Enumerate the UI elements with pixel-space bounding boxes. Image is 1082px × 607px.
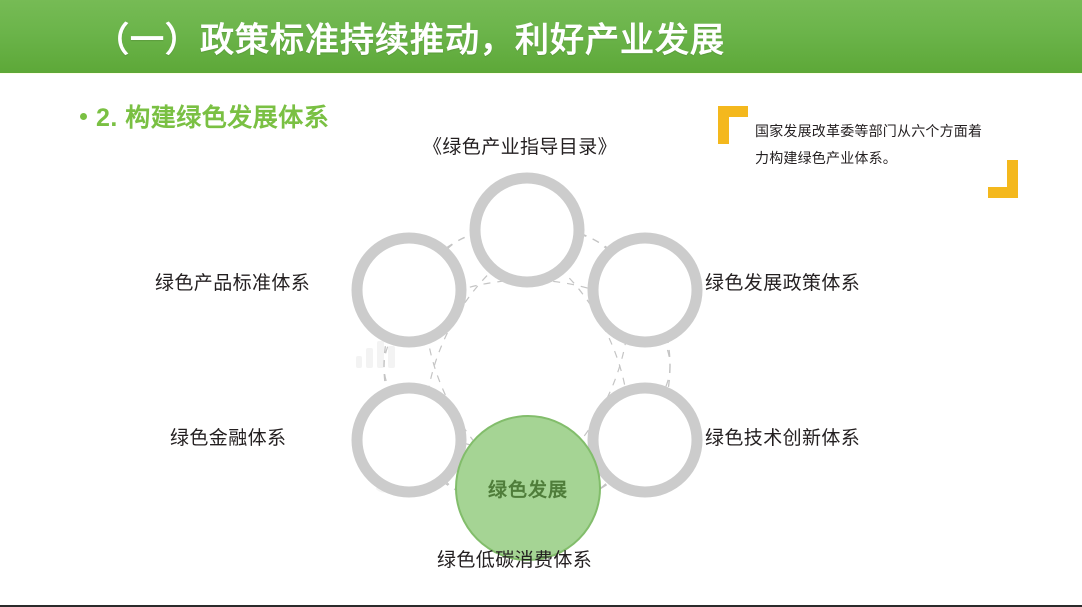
node-ring-top[interactable] [475,178,579,282]
bullet-dot-icon [80,113,87,120]
node-label-top-right: 绿色发展政策体系 [705,268,860,295]
slide-canvas: （一）政策标准持续推动，利好产业发展 2. 构建绿色发展体系 国家发展改革委等部… [0,0,1082,607]
node-label-bottom-right: 绿色技术创新体系 [705,423,860,450]
node-label-top-left: 绿色产品标准体系 [155,268,310,295]
slide-title-bar: （一）政策标准持续推动，利好产业发展 [0,0,1082,74]
node-ring-bottom-right[interactable] [593,388,697,492]
node-ring-top-left[interactable] [357,238,461,342]
node-ring-top-right[interactable] [593,238,697,342]
node-label-top: 《绿色产业指导目录》 [423,132,617,159]
center-hub-circle[interactable]: 绿色发展 [455,415,601,561]
node-label-bottom: 绿色低碳消费体系 [437,545,592,572]
node-ring-bottom-left[interactable] [357,388,461,492]
page-title: （一）政策标准持续推动，利好产业发展 [95,12,725,61]
green-development-hub-diagram: 绿色发展 《绿色产业指导目录》 绿色发展政策体系 绿色技术创新体系 绿色低碳消费… [0,120,1082,607]
node-label-bottom-left: 绿色金融体系 [170,423,286,450]
bar-chart-watermark-icon [356,341,395,368]
center-hub-label: 绿色发展 [488,475,568,502]
